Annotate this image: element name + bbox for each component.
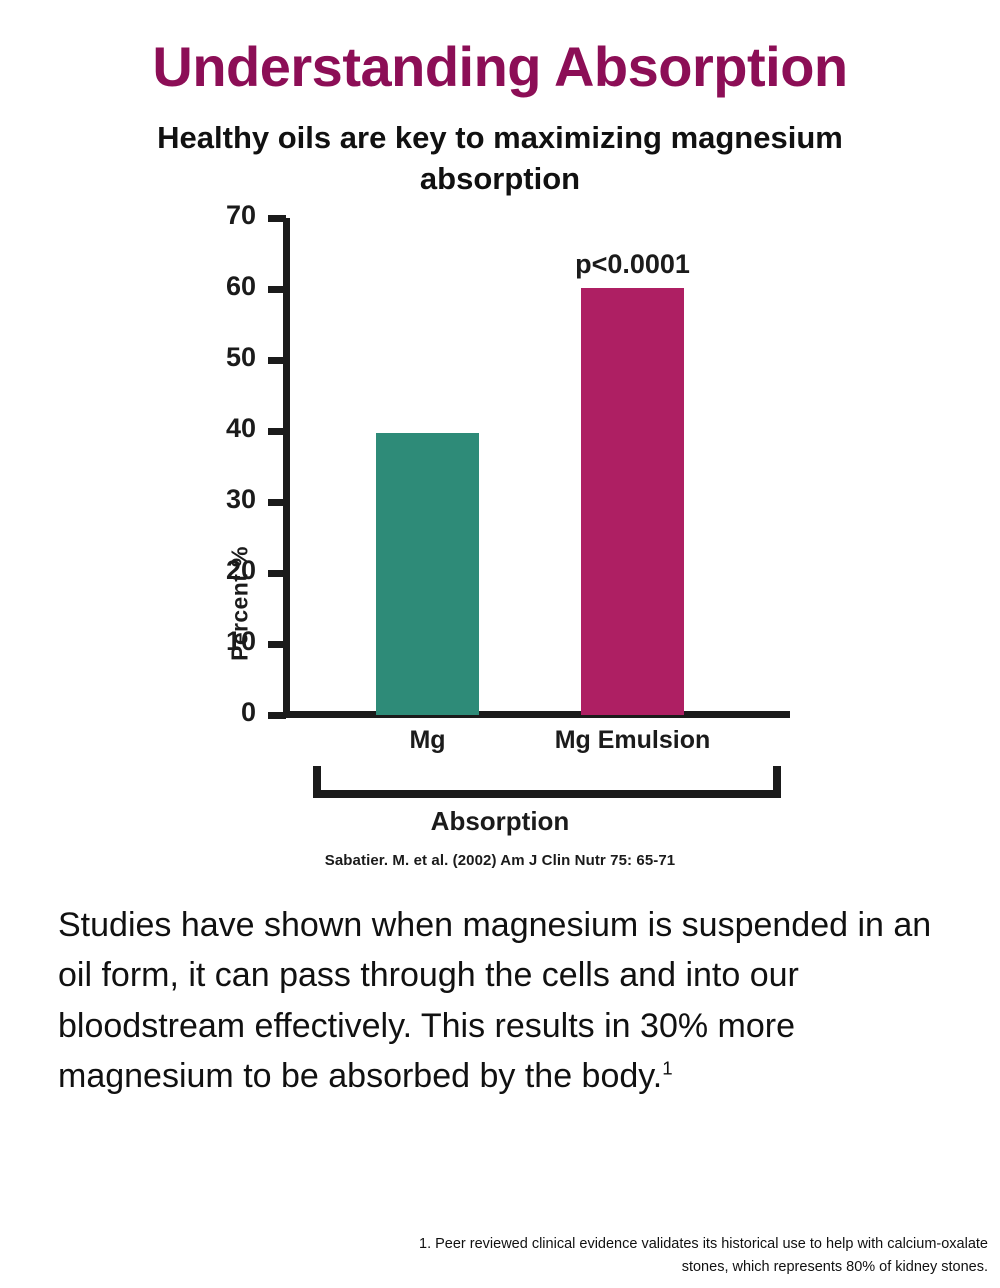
bracket-bar — [313, 790, 781, 798]
absorption-bar-chart: Percent % 010203040506070 p<0.0001 Mg Mg… — [0, 218, 1000, 878]
bar-mg — [376, 433, 479, 715]
footnote-marker: 1 — [662, 1058, 672, 1079]
page-subtitle: Healthy oils are key to maximizing magne… — [0, 118, 1000, 200]
chart-plot-area: Percent % 010203040506070 p<0.0001 Mg Mg… — [0, 218, 1000, 878]
body-paragraph-text: Studies have shown when magnesium is sus… — [58, 906, 931, 1095]
group-bracket — [313, 766, 781, 798]
page-title: Understanding Absorption — [0, 38, 1000, 96]
bar-mg-emulsion — [581, 288, 684, 715]
chart-source-citation: Sabatier. M. et al. (2002) Am J Clin Nut… — [0, 852, 1000, 869]
bars-layer — [0, 218, 1000, 715]
p-value-annotation: p<0.0001 — [483, 249, 783, 280]
x-axis-category-label-mg-emulsion: Mg Emulsion — [483, 726, 783, 755]
body-paragraph: Studies have shown when magnesium is sus… — [40, 900, 960, 1101]
footnote-text: 1. Peer reviewed clinical evidence valid… — [418, 1233, 988, 1278]
x-axis-group-label: Absorption — [0, 806, 1000, 837]
